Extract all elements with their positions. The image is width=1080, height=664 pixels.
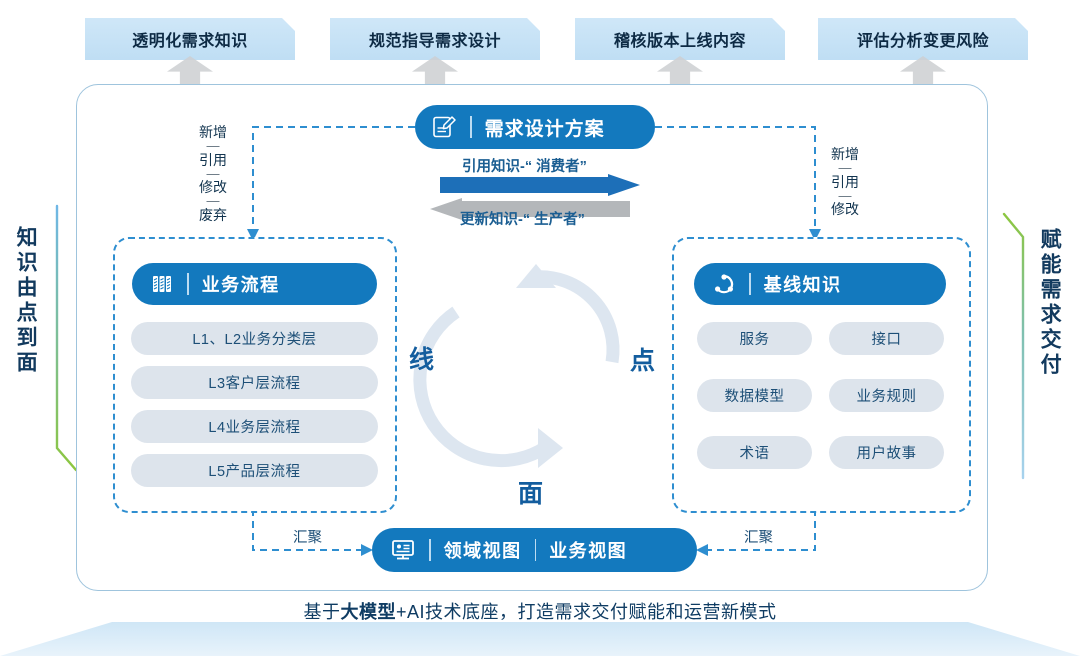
- cycle-label-line: 线: [409, 340, 434, 376]
- diagram-canvas: 透明化需求知识 规范指导需求设计 稽核版本上线内容 评估分析变更风险 知识由点到…: [0, 0, 1080, 664]
- knowledge-chip-interface[interactable]: 接口: [829, 322, 944, 355]
- top-banner-1-label: 透明化需求知识: [132, 27, 248, 51]
- baseline-knowledge-group: 基线知识 服务 接口 数据模型 业务规则 术语 用户故事: [672, 237, 971, 513]
- left-side-label: 知识由点到面: [14, 226, 37, 376]
- knowledge-chip-userstory[interactable]: 用户故事: [829, 436, 944, 469]
- dash-separator: —: [839, 190, 852, 202]
- divider: [535, 539, 537, 561]
- process-chip-l3[interactable]: L3客户层流程: [131, 366, 378, 399]
- caption-suffix: +AI技术底座，打造需求交付赋能和运营新模式: [396, 602, 777, 622]
- business-process-title: 业务流程: [202, 271, 280, 297]
- document-edit-icon: [431, 114, 457, 140]
- process-chip-l1l2[interactable]: L1、L2业务分类层: [131, 322, 378, 355]
- caption-prefix: 基于: [303, 602, 340, 622]
- top-banner-2-label: 规范指导需求设计: [369, 27, 501, 51]
- bottom-caption: 基于大模型+AI技术底座，打造需求交付赋能和运营新模式: [0, 598, 1080, 624]
- right-side-label: 赋能需求交付: [1038, 228, 1061, 378]
- aggregate-label-left: 汇聚: [293, 526, 322, 547]
- update-knowledge-label: 更新知识-“ 生产者”: [460, 208, 585, 229]
- view-panel-icon: [390, 537, 416, 563]
- divider: [187, 273, 189, 295]
- top-banner-4-label: 评估分析变更风险: [857, 27, 989, 51]
- bottom-trapezoid: [0, 622, 1080, 656]
- cycle-label-plane: 面: [518, 474, 543, 510]
- cite-knowledge-arrow: [440, 174, 640, 196]
- business-process-group: 业务流程 L1、L2业务分类层 L3客户层流程 L4业务层流程 L5产品层流程: [113, 237, 397, 513]
- process-chip-l4[interactable]: L4业务层流程: [131, 410, 378, 443]
- divider: [749, 273, 751, 295]
- baseline-knowledge-header[interactable]: 基线知识: [694, 263, 946, 305]
- aggregate-label-right: 汇聚: [744, 526, 773, 547]
- caption-bold: 大模型: [340, 602, 396, 622]
- cycle-label-point: 点: [630, 341, 655, 377]
- knowledge-chip-datamodel[interactable]: 数据模型: [697, 379, 812, 412]
- top-banner-3-label: 稽核版本上线内容: [614, 27, 746, 51]
- divider: [429, 539, 431, 561]
- top-banner-2[interactable]: 规范指导需求设计: [330, 18, 540, 60]
- business-view-label: 业务视图: [549, 537, 627, 563]
- left-connector-label-3: 废弃: [199, 207, 227, 223]
- knowledge-node-icon: [712, 272, 736, 296]
- business-process-header[interactable]: 业务流程: [132, 263, 377, 305]
- process-chip-l5[interactable]: L5产品层流程: [131, 454, 378, 487]
- dash-separator: —: [207, 195, 220, 207]
- left-connector-labels: 新增 — 引用 — 修改 — 废弃: [199, 124, 227, 223]
- top-banner-3[interactable]: 稽核版本上线内容: [575, 18, 785, 60]
- dash-separator: —: [839, 162, 852, 174]
- cite-knowledge-label: 引用知识-“ 消费者”: [462, 155, 587, 176]
- process-book-icon: [150, 272, 174, 296]
- divider: [470, 116, 472, 138]
- right-connector-labels: 新增 — 引用 — 修改: [831, 146, 859, 217]
- domain-view-label: 领域视图: [444, 537, 522, 563]
- knowledge-chip-term[interactable]: 术语: [697, 436, 812, 469]
- requirement-design-label: 需求设计方案: [485, 114, 605, 141]
- requirement-design-pill[interactable]: 需求设计方案: [415, 105, 655, 149]
- knowledge-chip-bizrule[interactable]: 业务规则: [829, 379, 944, 412]
- views-pill[interactable]: 领域视图 业务视图: [372, 528, 697, 572]
- right-connector-label-2: 修改: [831, 201, 859, 217]
- baseline-knowledge-title: 基线知识: [764, 271, 842, 297]
- top-banner-1[interactable]: 透明化需求知识: [85, 18, 295, 60]
- dash-separator: —: [207, 168, 220, 180]
- dash-separator: —: [207, 140, 220, 152]
- top-banner-4[interactable]: 评估分析变更风险: [818, 18, 1028, 60]
- knowledge-chip-service[interactable]: 服务: [697, 322, 812, 355]
